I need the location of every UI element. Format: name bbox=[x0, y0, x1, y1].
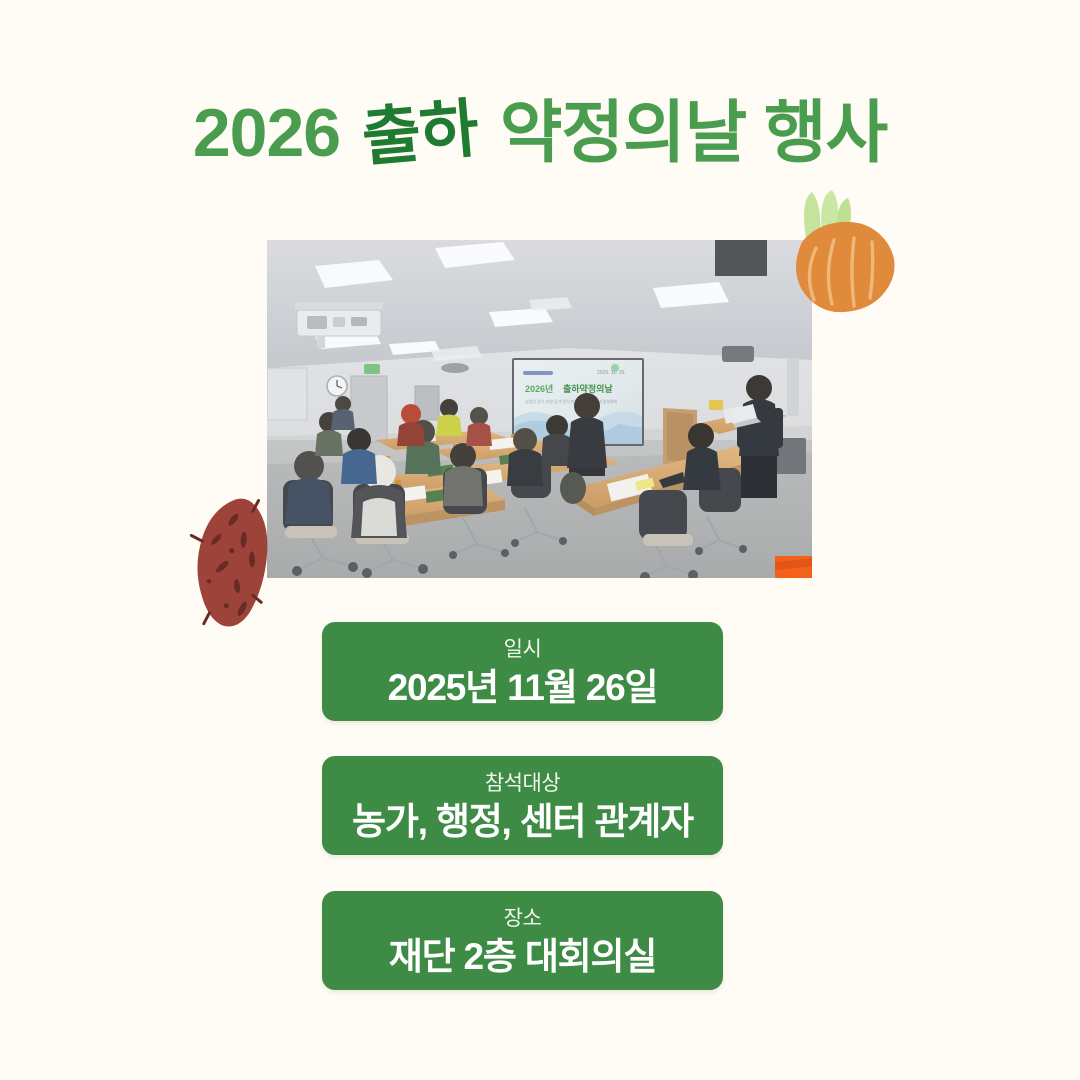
info-value-date: 2025년 11월 26일 bbox=[388, 666, 658, 710]
onion-icon bbox=[772, 182, 904, 316]
info-label-date: 일시 bbox=[504, 638, 542, 661]
info-value-location: 재단 2층 대회의실 bbox=[389, 935, 656, 979]
info-value-attendees: 농가, 행정, 센터 관계자 bbox=[352, 800, 693, 844]
seminar-room-photo: 2026년 출하약정의날 농업인 실익 지원 및 안정적 판로확보를 위한 사업… bbox=[267, 240, 812, 578]
event-poster: 2026 출하 약정의날 행사 bbox=[0, 0, 1080, 1080]
info-box-location: 장소 재단 2층 대회의실 bbox=[322, 891, 723, 990]
info-box-date: 일시 2025년 11월 26일 bbox=[322, 622, 723, 721]
title-accent-word: 출하 bbox=[360, 96, 481, 170]
sweet-potato-icon bbox=[172, 492, 296, 634]
event-photo: 2026년 출하약정의날 농업인 실익 지원 및 안정적 판로확보를 위한 사업… bbox=[267, 240, 812, 578]
title-year: 2026 bbox=[193, 99, 340, 167]
info-label-location: 장소 bbox=[504, 907, 542, 930]
title-main-text: 약정의날 행사 bbox=[500, 99, 887, 167]
info-box-attendees: 참석대상 농가, 행정, 센터 관계자 bbox=[322, 756, 723, 855]
info-label-attendees: 참석대상 bbox=[485, 772, 560, 795]
poster-title: 2026 출하 약정의날 행사 bbox=[0, 88, 1080, 178]
